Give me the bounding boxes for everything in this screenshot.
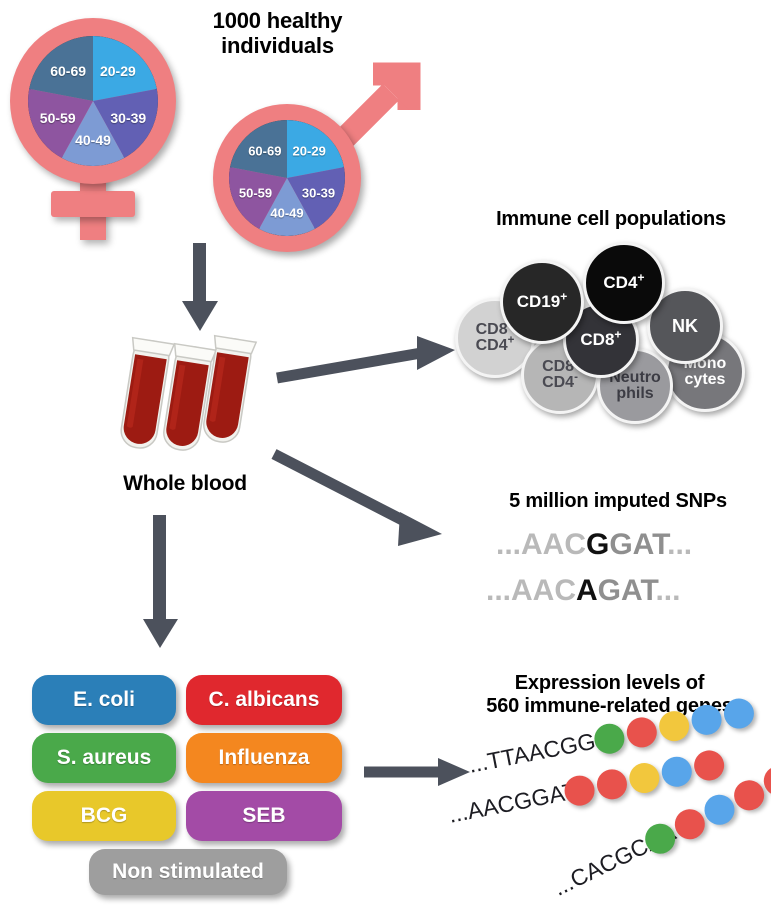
snp-sequence-row: ...AACAGAT... (486, 574, 680, 608)
expression-title: Expression levels of 560 immune-related … (452, 672, 767, 718)
expression-sequence-text: ...AACGGAT (446, 777, 579, 828)
snp-tail: ... (655, 574, 680, 607)
snp-tail: ... (667, 528, 692, 561)
immune-cell-populations-title: Immune cell populations (455, 208, 767, 231)
immune-cell-cd19[interactable]: CD19+ (500, 260, 584, 344)
stimulation-seb[interactable]: SEB (186, 791, 342, 841)
male-gender-symbol: 20-2930-3940-4950-5960-69 (205, 60, 420, 250)
stimulation-label: BCG (81, 804, 128, 828)
expression-bead (624, 715, 659, 750)
snp-variant-allele: A (576, 574, 598, 607)
expression-title-line1: Expression levels of (452, 672, 767, 695)
pie-label-30-39: 30-39 (110, 110, 146, 126)
stimulation-non-stimulated[interactable]: Non stimulated (89, 849, 287, 895)
stimulation-panel: E. coliC. albicansS. aureusInfluenzaBCGS… (32, 675, 342, 895)
pie-label-20-29: 20-29 (100, 63, 136, 79)
expression-bead (659, 754, 694, 789)
stimulation-label: E. coli (73, 688, 135, 712)
arrow-blood-to-immune-cells (275, 330, 460, 390)
immune-cell-list: CD19+CD4+NKCD8+CD4+CD8+MonocytesCD8-CD4-… (455, 240, 771, 420)
expression-strand-list: ...TTAACGG...AACGGAT...CACGCAA (455, 730, 771, 915)
snp-variant-allele: G (586, 528, 609, 561)
immune-cell-label: CD19+ (517, 293, 568, 310)
snp-sequence-row: ...AACGGAT... (496, 528, 692, 562)
immune-cell-label: CD4+ (603, 274, 644, 291)
immune-cell-label: CD4- (542, 375, 578, 391)
pie-label-40-49: 40-49 (270, 205, 303, 220)
blood-tubes-svg (105, 330, 265, 460)
expression-bead (692, 748, 727, 783)
pie-label-40-49: 40-49 (75, 132, 111, 148)
arrow-blood-to-stimulations (135, 515, 185, 650)
male-pie-labels: 20-2930-3940-4950-5960-69 (229, 120, 345, 236)
pie-label-30-39: 30-39 (302, 185, 335, 200)
stimulation-bcg[interactable]: BCG (32, 791, 176, 841)
arrow-blood-to-snps (272, 450, 457, 555)
pie-label-60-69: 60-69 (248, 144, 281, 159)
stimulation-label: C. albicans (209, 688, 320, 712)
cohort-title-line1: 1000 healthy (175, 8, 380, 33)
pie-label-50-59: 50-59 (40, 110, 76, 126)
stimulation-c-albicans[interactable]: C. albicans (186, 675, 342, 725)
whole-blood-tubes (105, 330, 265, 460)
stimulation-label: Non stimulated (112, 860, 264, 884)
stimulation-e-coli[interactable]: E. coli (32, 675, 176, 725)
cohort-title: 1000 healthy individuals (175, 8, 380, 59)
arrow-cohort-to-blood (175, 243, 225, 333)
female-pie-labels: 20-2930-3940-4950-5960-69 (28, 36, 158, 166)
immune-cell-label: cytes (684, 372, 727, 388)
stimulation-influenza[interactable]: Influenza (186, 733, 342, 783)
snp-sequences: ...AACGGAT......AACAGAT... (478, 528, 758, 618)
snp-sequence-list: ...AACGGAT......AACAGAT... (478, 528, 758, 618)
female-symbol-crossbar (51, 191, 135, 217)
figure-canvas: 1000 healthy individuals 20-2930-3940-49… (0, 0, 771, 922)
whole-blood-label: Whole blood (80, 472, 290, 496)
immune-cell-label: CD4+ (476, 338, 515, 354)
stimulation-label: SEB (242, 804, 285, 828)
snp-suffix: GAT (609, 528, 667, 561)
expression-strands: ...TTAACGG...AACGGAT...CACGCAA (455, 730, 771, 915)
stimulation-s-aureus[interactable]: S. aureus (32, 733, 176, 783)
cohort-title-line2: individuals (175, 33, 380, 58)
expression-bead (594, 767, 629, 802)
immune-cell-label: phils (609, 386, 661, 402)
immune-cell-label: NK (672, 317, 698, 335)
snp-prefix: ...AAC (496, 528, 586, 561)
snp-suffix: GAT (598, 574, 656, 607)
snp-prefix: ...AAC (486, 574, 576, 607)
immune-cell-label: CD8+ (580, 331, 621, 348)
pie-label-20-29: 20-29 (293, 144, 326, 159)
expression-sequence-text: ...TTAACGG (466, 728, 597, 779)
stimulation-list: E. coliC. albicansS. aureusInfluenzaBCGS… (32, 675, 342, 895)
stimulation-label: Influenza (218, 746, 309, 770)
immune-cell-cluster: CD19+CD4+NKCD8+CD4+CD8+MonocytesCD8-CD4-… (455, 240, 771, 420)
stimulation-label: S. aureus (57, 746, 152, 770)
female-gender-symbol: 20-2930-3940-4950-5960-69 (0, 8, 200, 238)
snps-title: 5 million imputed SNPs (468, 490, 768, 513)
pie-label-50-59: 50-59 (239, 185, 272, 200)
immune-cell-cd4[interactable]: CD4+ (583, 242, 665, 324)
expression-bead (627, 760, 662, 795)
pie-label-60-69: 60-69 (50, 63, 86, 79)
